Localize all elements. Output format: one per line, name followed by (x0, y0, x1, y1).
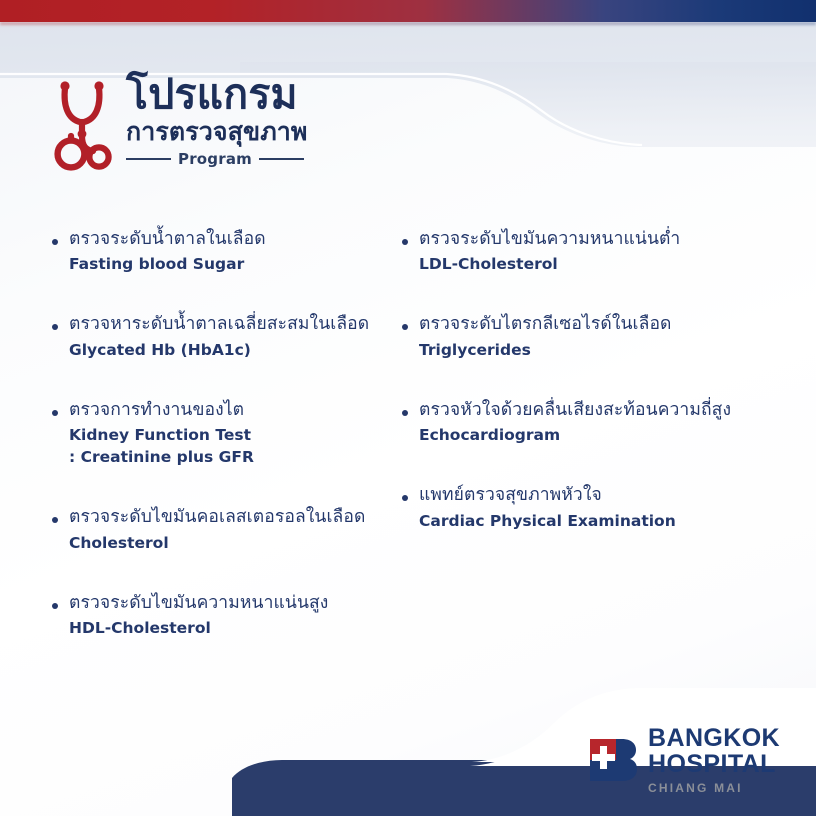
rule-right (259, 158, 304, 160)
bullet-icon (402, 410, 408, 416)
list-item: ตรวจระดับไตรกลีเซอไรด์ในเลือด Triglyceri… (402, 313, 816, 360)
bullet-icon (52, 603, 58, 609)
list-item: ตรวจระดับไขมันคอเลสเตอรอลในเลือด Cholest… (52, 506, 400, 553)
item-thai-label: ตรวจหาระดับน้ำตาลเฉลี่ยสะสมในเลือด (69, 313, 400, 336)
list-item: ตรวจระดับน้ำตาลในเลือด Fasting blood Sug… (52, 228, 400, 275)
program-logo: โปรแกรม การตรวจสุขภาพ Program (52, 72, 308, 174)
item-english-label: HDL-Cholesterol (69, 617, 400, 639)
rule-left (126, 158, 171, 160)
bullet-icon (52, 410, 58, 416)
hospital-logo: BANGKOK HOSPITAL CHIANG MAI (586, 726, 780, 794)
item-thai-label: ตรวจหัวใจด้วยคลื่นเสียงสะท้อนความถี่สูง (419, 399, 816, 422)
item-english-label-2: : Creatinine plus GFR (69, 446, 400, 468)
bullet-icon (52, 517, 58, 523)
item-thai-label: แพทย์ตรวจสุขภาพหัวใจ (419, 484, 816, 507)
bullet-icon (52, 239, 58, 245)
list-item: แพทย์ตรวจสุขภาพหัวใจ Cardiac Physical Ex… (402, 484, 816, 531)
checkup-list: ตรวจระดับน้ำตาลในเลือด Fasting blood Sug… (0, 228, 816, 639)
checkup-list-left-column: ตรวจระดับน้ำตาลในเลือด Fasting blood Sug… (0, 228, 400, 639)
item-english-label: Triglycerides (419, 339, 816, 361)
list-item: ตรวจการทำงานของไต Kidney Function Test :… (52, 399, 400, 468)
brand-line-2: HOSPITAL (648, 752, 780, 778)
item-english-label: Cardiac Physical Examination (419, 510, 816, 532)
list-item: ตรวจหาระดับน้ำตาลเฉลี่ยสะสมในเลือด Glyca… (52, 313, 400, 360)
program-title-en-row: Program (126, 150, 304, 168)
list-item: ตรวจระดับไขมันความหนาแน่นต่ำ LDL-Cholest… (402, 228, 816, 275)
stethoscope-icon (52, 74, 118, 174)
bangkok-hospital-cross-icon (586, 735, 638, 785)
program-title-en: Program (178, 150, 252, 168)
brand-line-1: BANGKOK (648, 726, 780, 752)
item-thai-label: ตรวจระดับไตรกลีเซอไรด์ในเลือด (419, 313, 816, 336)
item-english-label: Cholesterol (69, 532, 400, 554)
list-item: ตรวจหัวใจด้วยคลื่นเสียงสะท้อนความถี่สูง … (402, 399, 816, 446)
bullet-icon (52, 324, 58, 330)
item-thai-label: ตรวจระดับไขมันความหนาแน่นสูง (69, 592, 400, 615)
bullet-icon (402, 495, 408, 501)
item-thai-label: ตรวจระดับไขมันความหนาแน่นต่ำ (419, 228, 816, 251)
item-thai-label: ตรวจระดับน้ำตาลในเลือด (69, 228, 400, 251)
item-thai-label: ตรวจระดับไขมันคอเลสเตอรอลในเลือด (69, 506, 400, 529)
item-english-label: Kidney Function Test (69, 424, 400, 446)
top-gradient-bar (0, 0, 816, 22)
checkup-list-right-column: ตรวจระดับไขมันความหนาแน่นต่ำ LDL-Cholest… (400, 228, 816, 639)
program-subtitle-thai: การตรวจสุขภาพ (126, 118, 308, 147)
list-item: ตรวจระดับไขมันความหนาแน่นสูง HDL-Cholest… (52, 592, 400, 639)
item-english-label: LDL-Cholesterol (419, 253, 816, 275)
brand-location: CHIANG MAI (648, 782, 780, 794)
item-english-label: Echocardiogram (419, 424, 816, 446)
item-english-label: Glycated Hb (HbA1c) (69, 339, 400, 361)
hospital-logo-text: BANGKOK HOSPITAL CHIANG MAI (648, 726, 780, 794)
item-thai-label: ตรวจการทำงานของไต (69, 399, 400, 422)
top-bar-shadow (0, 22, 816, 25)
item-english-label: Fasting blood Sugar (69, 253, 400, 275)
poster-canvas: โปรแกรม การตรวจสุขภาพ Program ตรวจระดับน… (0, 0, 816, 816)
bullet-icon (402, 324, 408, 330)
program-title-thai: โปรแกรม (126, 74, 308, 114)
bullet-icon (402, 239, 408, 245)
